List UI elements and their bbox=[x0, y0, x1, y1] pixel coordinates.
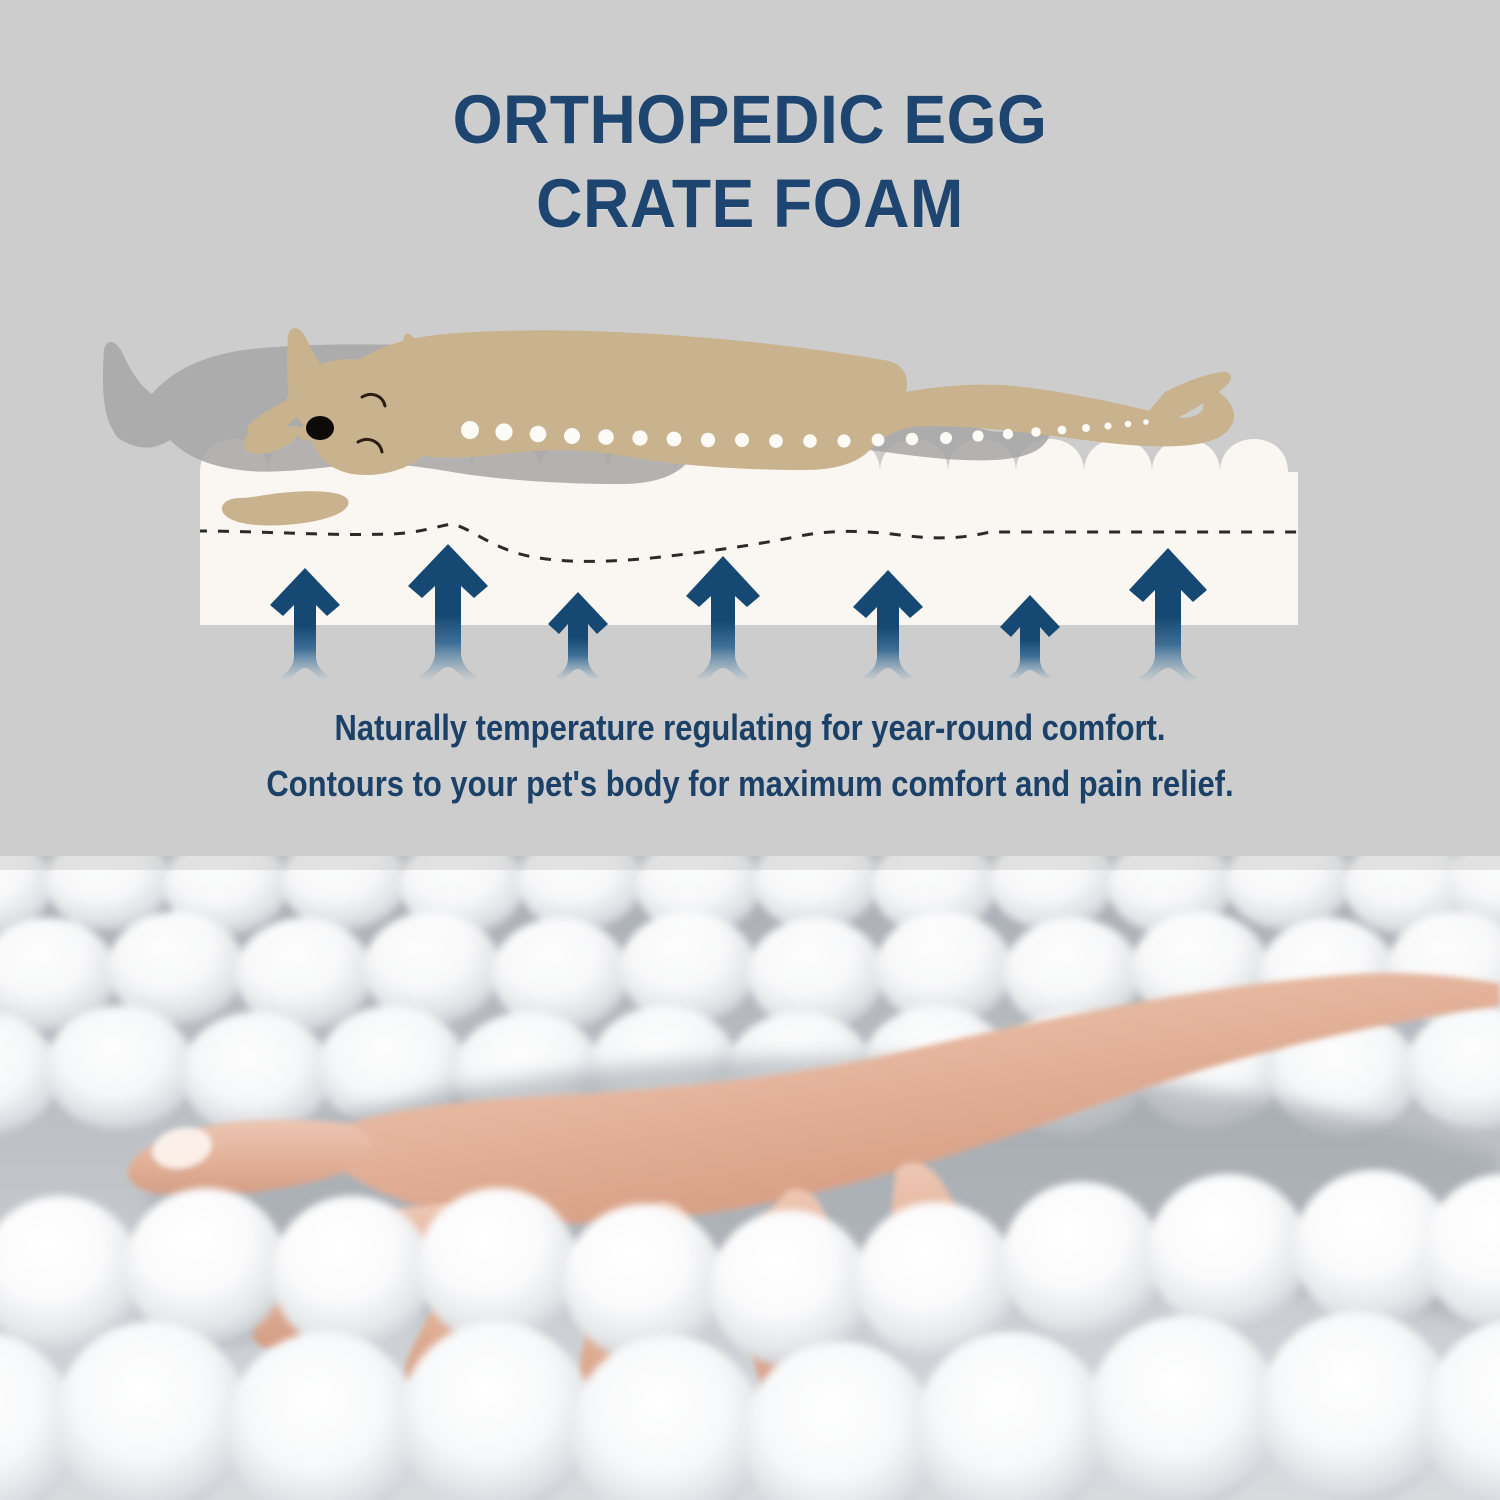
caption-block: Naturally temperature regulating for yea… bbox=[105, 700, 1395, 812]
top-info-panel: ORTHOPEDIC EGG CRATE FOAM bbox=[0, 0, 1500, 856]
dog-nose bbox=[306, 416, 334, 440]
caption-line-2: Contours to your pet's body for maximum … bbox=[105, 756, 1395, 812]
page-title: ORTHOPEDIC EGG CRATE FOAM bbox=[53, 78, 1448, 246]
caption-line-1: Naturally temperature regulating for yea… bbox=[105, 700, 1395, 756]
title-line-2: CRATE FOAM bbox=[536, 165, 964, 242]
foam-contour-diagram bbox=[0, 300, 1500, 690]
foam-photo-panel bbox=[0, 856, 1500, 1500]
title-line-1: ORTHOPEDIC EGG bbox=[453, 81, 1048, 158]
egg-crate-foam-photo bbox=[0, 856, 1500, 1500]
product-infographic: ORTHOPEDIC EGG CRATE FOAM bbox=[0, 0, 1500, 1500]
